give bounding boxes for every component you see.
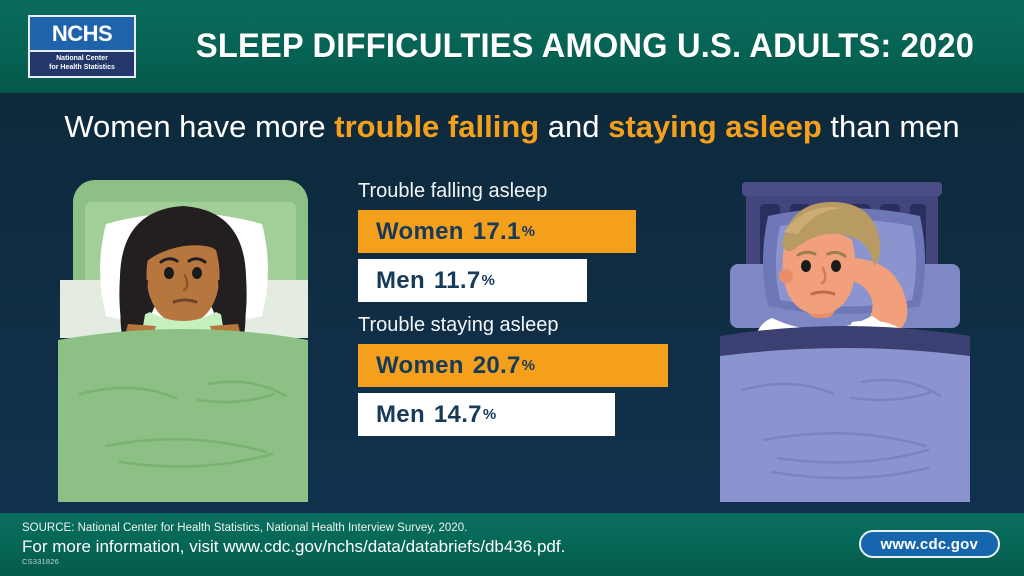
woman-awake-in-bed-illustration bbox=[58, 172, 343, 502]
bar-label-women: Women bbox=[376, 218, 464, 246]
bar-percent-sign: % bbox=[522, 357, 535, 374]
footer-source-text: SOURCE: National Center for Health Stati… bbox=[22, 521, 467, 536]
group-label-falling-asleep: Trouble falling asleep bbox=[358, 178, 688, 204]
subtitle-highlight-2: staying asleep bbox=[608, 109, 822, 144]
nchs-logo-acronym: NCHS bbox=[30, 17, 134, 52]
cdc-website-badge[interactable]: www.cdc.gov bbox=[859, 530, 1001, 558]
subtitle-part-3: than men bbox=[822, 109, 960, 144]
bar-value-women-staying: 20.7 bbox=[473, 352, 521, 380]
nchs-logo: NCHS National Center for Health Statisti… bbox=[28, 15, 136, 78]
bar-label-men: Men bbox=[376, 267, 425, 295]
subtitle-highlight-1: trouble falling bbox=[334, 109, 539, 144]
footer-cs-number: CS331826 bbox=[22, 557, 59, 567]
bar-men-falling-asleep: Men 11.7 % bbox=[358, 259, 587, 302]
bar-percent-sign: % bbox=[483, 406, 496, 423]
bar-value-women-falling: 17.1 bbox=[473, 218, 521, 246]
subtitle-part-1: Women have more bbox=[64, 109, 334, 144]
bar-percent-sign: % bbox=[522, 223, 535, 240]
subtitle-part-2: and bbox=[539, 109, 608, 144]
group-label-staying-asleep: Trouble staying asleep bbox=[358, 312, 688, 338]
nchs-logo-subtext: National Center for Health Statistics bbox=[30, 52, 134, 76]
header-band: NCHS National Center for Health Statisti… bbox=[0, 0, 1024, 93]
chart-group-falling-asleep: Trouble falling asleep Women 17.1 % Men … bbox=[358, 178, 688, 302]
bar-women-falling-asleep: Women 17.1 % bbox=[358, 210, 636, 253]
infographic-canvas: NCHS National Center for Health Statisti… bbox=[0, 0, 1024, 576]
subtitle-headline: Women have more trouble falling and stay… bbox=[0, 107, 1024, 147]
nchs-acronym-text: NCHS bbox=[52, 23, 112, 45]
bar-chart: Trouble falling asleep Women 17.1 % Men … bbox=[358, 178, 688, 436]
bar-value-men-falling: 11.7 bbox=[434, 267, 481, 295]
bar-percent-sign: % bbox=[482, 272, 495, 289]
bar-men-staying-asleep: Men 14.7 % bbox=[358, 393, 615, 436]
page-title: SLEEP DIFFICULTIES AMONG U.S. ADULTS: 20… bbox=[177, 0, 993, 93]
bar-value-men-staying: 14.7 bbox=[434, 401, 482, 429]
nchs-logo-line2: for Health Statistics bbox=[49, 64, 115, 73]
footer-more-info-text: For more information, visit www.cdc.gov/… bbox=[22, 536, 565, 557]
bar-women-staying-asleep: Women 20.7 % bbox=[358, 344, 668, 387]
cdc-badge-label: www.cdc.gov bbox=[881, 536, 979, 553]
chart-group-staying-asleep: Trouble staying asleep Women 20.7 % Men … bbox=[358, 312, 688, 436]
bar-label-women: Women bbox=[376, 352, 464, 380]
bar-label-men: Men bbox=[376, 401, 425, 429]
man-awake-in-bed-illustration bbox=[702, 172, 987, 502]
nchs-logo-line1: National Center bbox=[56, 55, 108, 64]
